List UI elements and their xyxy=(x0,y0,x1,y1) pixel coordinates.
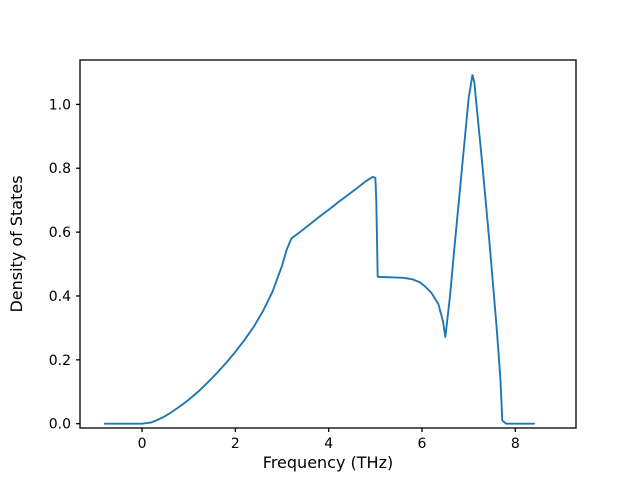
x-tick-label: 4 xyxy=(324,436,333,452)
y-tick-label: 0.6 xyxy=(49,225,71,241)
dos-line-chart: 02468 0.00.20.40.60.81.0 Frequency (THz)… xyxy=(0,0,640,480)
figure-canvas: 02468 0.00.20.40.60.81.0 Frequency (THz)… xyxy=(0,0,640,480)
y-tick-label: 0.4 xyxy=(49,289,71,305)
y-tick-label: 0.2 xyxy=(49,353,71,369)
y-tick-label: 0.8 xyxy=(49,161,71,177)
x-tick-label: 8 xyxy=(511,436,520,452)
x-tick-label: 0 xyxy=(138,436,147,452)
x-axis-label: Frequency (THz) xyxy=(263,453,393,472)
y-tick-label: 1.0 xyxy=(49,97,71,113)
x-axis-ticks: 02468 xyxy=(138,428,520,452)
y-axis-label: Density of States xyxy=(7,175,26,312)
y-tick-label: 0.0 xyxy=(49,417,71,433)
dos-curve xyxy=(105,75,534,424)
y-axis-ticks: 0.00.20.40.60.81.0 xyxy=(49,97,80,432)
axes-frame xyxy=(80,60,576,428)
x-tick-label: 6 xyxy=(418,436,427,452)
x-tick-label: 2 xyxy=(231,436,240,452)
